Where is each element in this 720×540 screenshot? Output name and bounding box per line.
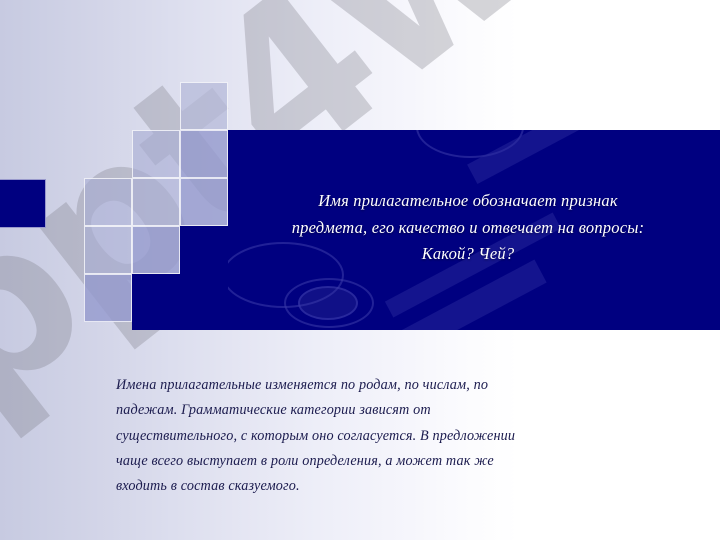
navy-step-lower — [132, 274, 180, 330]
decor-square-low-right — [180, 178, 228, 226]
decor-square-base-left — [84, 226, 132, 274]
slide-title-line-2: предмета, его качество и отвечает на воп… — [236, 215, 700, 242]
decor-square-top — [180, 82, 228, 130]
slide-body-line-3: существительного, с которым оно согласуе… — [116, 424, 626, 449]
decor-square-mid-left — [132, 130, 180, 178]
navy-step-upper — [180, 226, 228, 330]
decor-square-foot — [84, 274, 132, 322]
slide-body-line-1: Имена прилагательные изменяется по родам… — [116, 373, 626, 398]
navy-accent-square — [0, 179, 46, 228]
slide-title-line-1: Имя прилагательное обозначает признак — [236, 188, 700, 215]
presentation-slide: ppt4web Имя прилагательное обозначает пр… — [0, 0, 720, 540]
slide-body-line-4: чаще всего выступает в роли определения,… — [116, 449, 626, 474]
decor-square-low-mid — [132, 178, 180, 226]
slide-body-line-5: входить в состав сказуемого. — [116, 474, 626, 499]
slide-title: Имя прилагательное обозначает признак пр… — [236, 188, 700, 268]
slide-body: Имена прилагательные изменяется по родам… — [116, 373, 626, 499]
decor-square-base-mid — [132, 226, 180, 274]
decor-square-mid-right — [180, 130, 228, 178]
slide-title-line-3: Какой? Чей? — [236, 241, 700, 268]
slide-body-line-2: падежам. Грамматические категории завися… — [116, 398, 626, 423]
decor-square-low-left — [84, 178, 132, 226]
